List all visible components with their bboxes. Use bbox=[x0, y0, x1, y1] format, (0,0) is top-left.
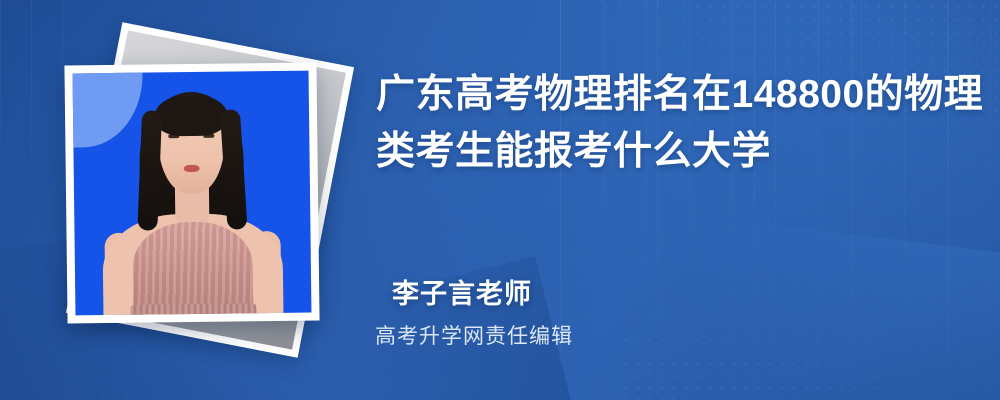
portrait-lips bbox=[184, 165, 200, 172]
headline-block: 广东高考物理排名在148800的物理 类考生能报考什么大学 bbox=[376, 66, 976, 180]
portrait-hair-fringe bbox=[154, 96, 228, 137]
photo-card-front bbox=[64, 62, 319, 323]
portrait-dress-waistband bbox=[130, 303, 256, 315]
author-role: 高考升学网责任编辑 bbox=[375, 320, 573, 350]
photo-corner-accent-shape bbox=[73, 71, 144, 148]
photo-stack bbox=[48, 36, 348, 366]
page-title-line-1: 广东高考物理排名在148800的物理 bbox=[376, 66, 976, 123]
avatar bbox=[73, 71, 312, 316]
author-name: 李子言老师 bbox=[392, 272, 532, 311]
page-title-line-2: 类考生能报考什么大学 bbox=[376, 123, 976, 180]
article-cover-banner: 广东高考物理排名在148800的物理 类考生能报考什么大学 李子言老师 高考升学… bbox=[0, 0, 1000, 400]
portrait-dress bbox=[132, 221, 253, 315]
